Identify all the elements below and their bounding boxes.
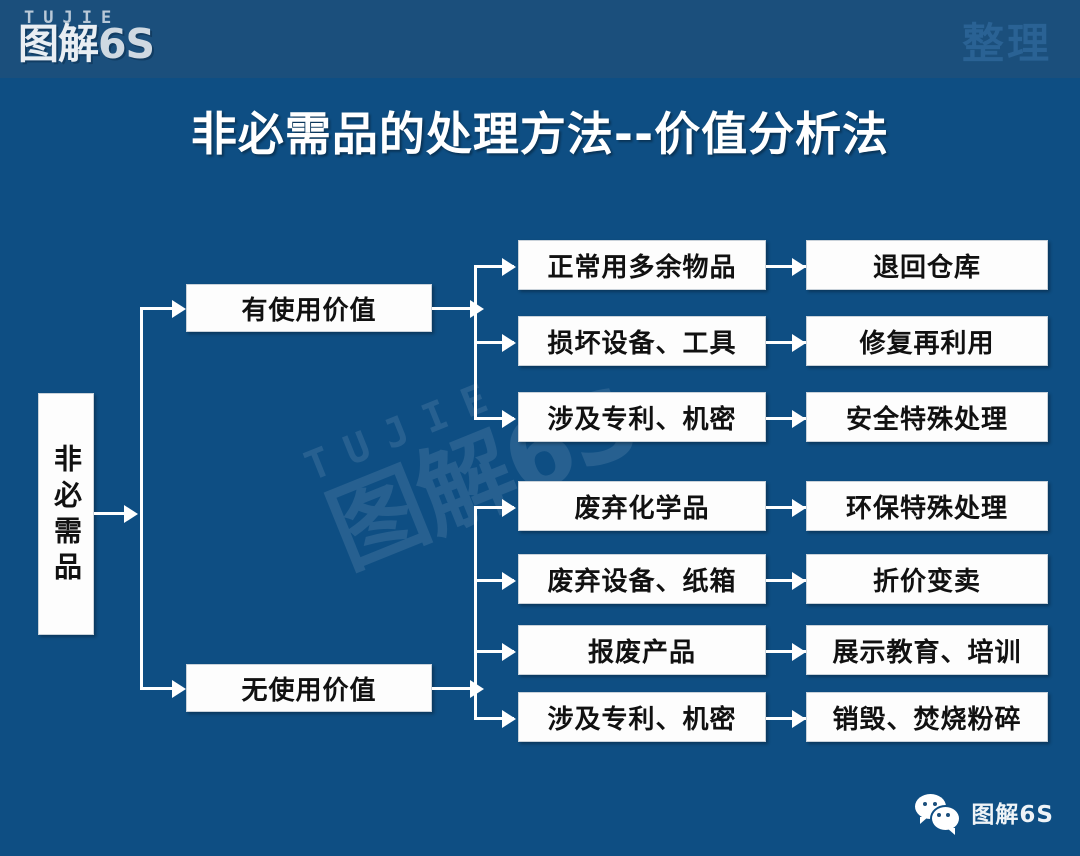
arrow-b2-r4-action xyxy=(792,710,806,728)
arrow-b1-r1 xyxy=(502,258,516,276)
connector-root-to-branch-1 xyxy=(140,307,176,310)
arrow-branch2-stem xyxy=(470,680,484,698)
cause-node-b2-4[interactable]: 涉及专利、机密 xyxy=(518,692,766,742)
wechat-footer[interactable]: 图解6S xyxy=(915,794,1054,830)
logo-cn: 图解 xyxy=(18,20,98,68)
root-node[interactable]: 非必需品 xyxy=(38,393,94,635)
arrow-b1-r3 xyxy=(502,410,516,428)
connector-branch1-stem xyxy=(432,307,474,310)
wechat-account-name: 图解6S xyxy=(971,795,1054,829)
arrow-b2-r3 xyxy=(502,643,516,661)
cause-node-b2-1[interactable]: 废弃化学品 xyxy=(518,481,766,531)
connector-root-bracket xyxy=(140,308,143,690)
arrow-b2-r1 xyxy=(502,499,516,517)
action-node-b2-4[interactable]: 销毁、焚烧粉碎 xyxy=(806,692,1048,742)
cause-node-b1-3[interactable]: 涉及专利、机密 xyxy=(518,392,766,442)
cause-node-b1-2[interactable]: 损坏设备、工具 xyxy=(518,316,766,366)
connector-branch2-stem xyxy=(432,687,474,690)
arrow-branch-2 xyxy=(172,680,186,698)
page-title: 非必需品的处理方法--价值分析法 xyxy=(0,98,1080,164)
cause-node-b2-3[interactable]: 报废产品 xyxy=(518,625,766,675)
arrow-b2-r2 xyxy=(502,572,516,590)
action-node-b2-3[interactable]: 展示教育、培训 xyxy=(806,625,1048,675)
arrow-b2-r3-action xyxy=(792,643,806,661)
cause-node-b2-2[interactable]: 废弃设备、纸箱 xyxy=(518,554,766,604)
connector-branch2-bracket xyxy=(474,506,477,718)
action-node-b1-3[interactable]: 安全特殊处理 xyxy=(806,392,1048,442)
connector-root-to-branch-2 xyxy=(140,687,176,690)
action-node-b1-1[interactable]: 退回仓库 xyxy=(806,240,1048,290)
connector-root-stem xyxy=(94,512,126,515)
arrow-b2-r2-action xyxy=(792,572,806,590)
arrow-b1-r3-action xyxy=(792,410,806,428)
watermark-title: 图解6S xyxy=(316,333,743,583)
logo-title: 图解6S xyxy=(18,22,154,66)
action-node-b1-2[interactable]: 修复再利用 xyxy=(806,316,1048,366)
branch-node-1[interactable]: 有使用价值 xyxy=(186,284,432,332)
arrow-branch1-stem xyxy=(470,300,484,318)
arrow-b2-r4 xyxy=(502,710,516,728)
logo-number: 6S xyxy=(98,20,154,68)
arrow-b1-r2-action xyxy=(792,334,806,352)
diagram-canvas: TUJIE 图解6S 整理 非必需品的处理方法--价值分析法 TUJIE 图解6… xyxy=(0,0,1080,856)
header-category-tag: 整理 xyxy=(962,10,1052,71)
arrow-b1-r1-action xyxy=(792,258,806,276)
branch-node-2[interactable]: 无使用价值 xyxy=(186,664,432,712)
cause-node-b1-1[interactable]: 正常用多余物品 xyxy=(518,240,766,290)
action-node-b2-1[interactable]: 环保特殊处理 xyxy=(806,481,1048,531)
arrow-branch-1 xyxy=(172,300,186,318)
arrow-root-stem xyxy=(124,505,138,523)
brand-logo: TUJIE 图解6S xyxy=(14,6,214,68)
wechat-icon xyxy=(915,794,961,830)
action-node-b2-2[interactable]: 折价变卖 xyxy=(806,554,1048,604)
arrow-b1-r2 xyxy=(502,334,516,352)
arrow-b2-r1-action xyxy=(792,499,806,517)
